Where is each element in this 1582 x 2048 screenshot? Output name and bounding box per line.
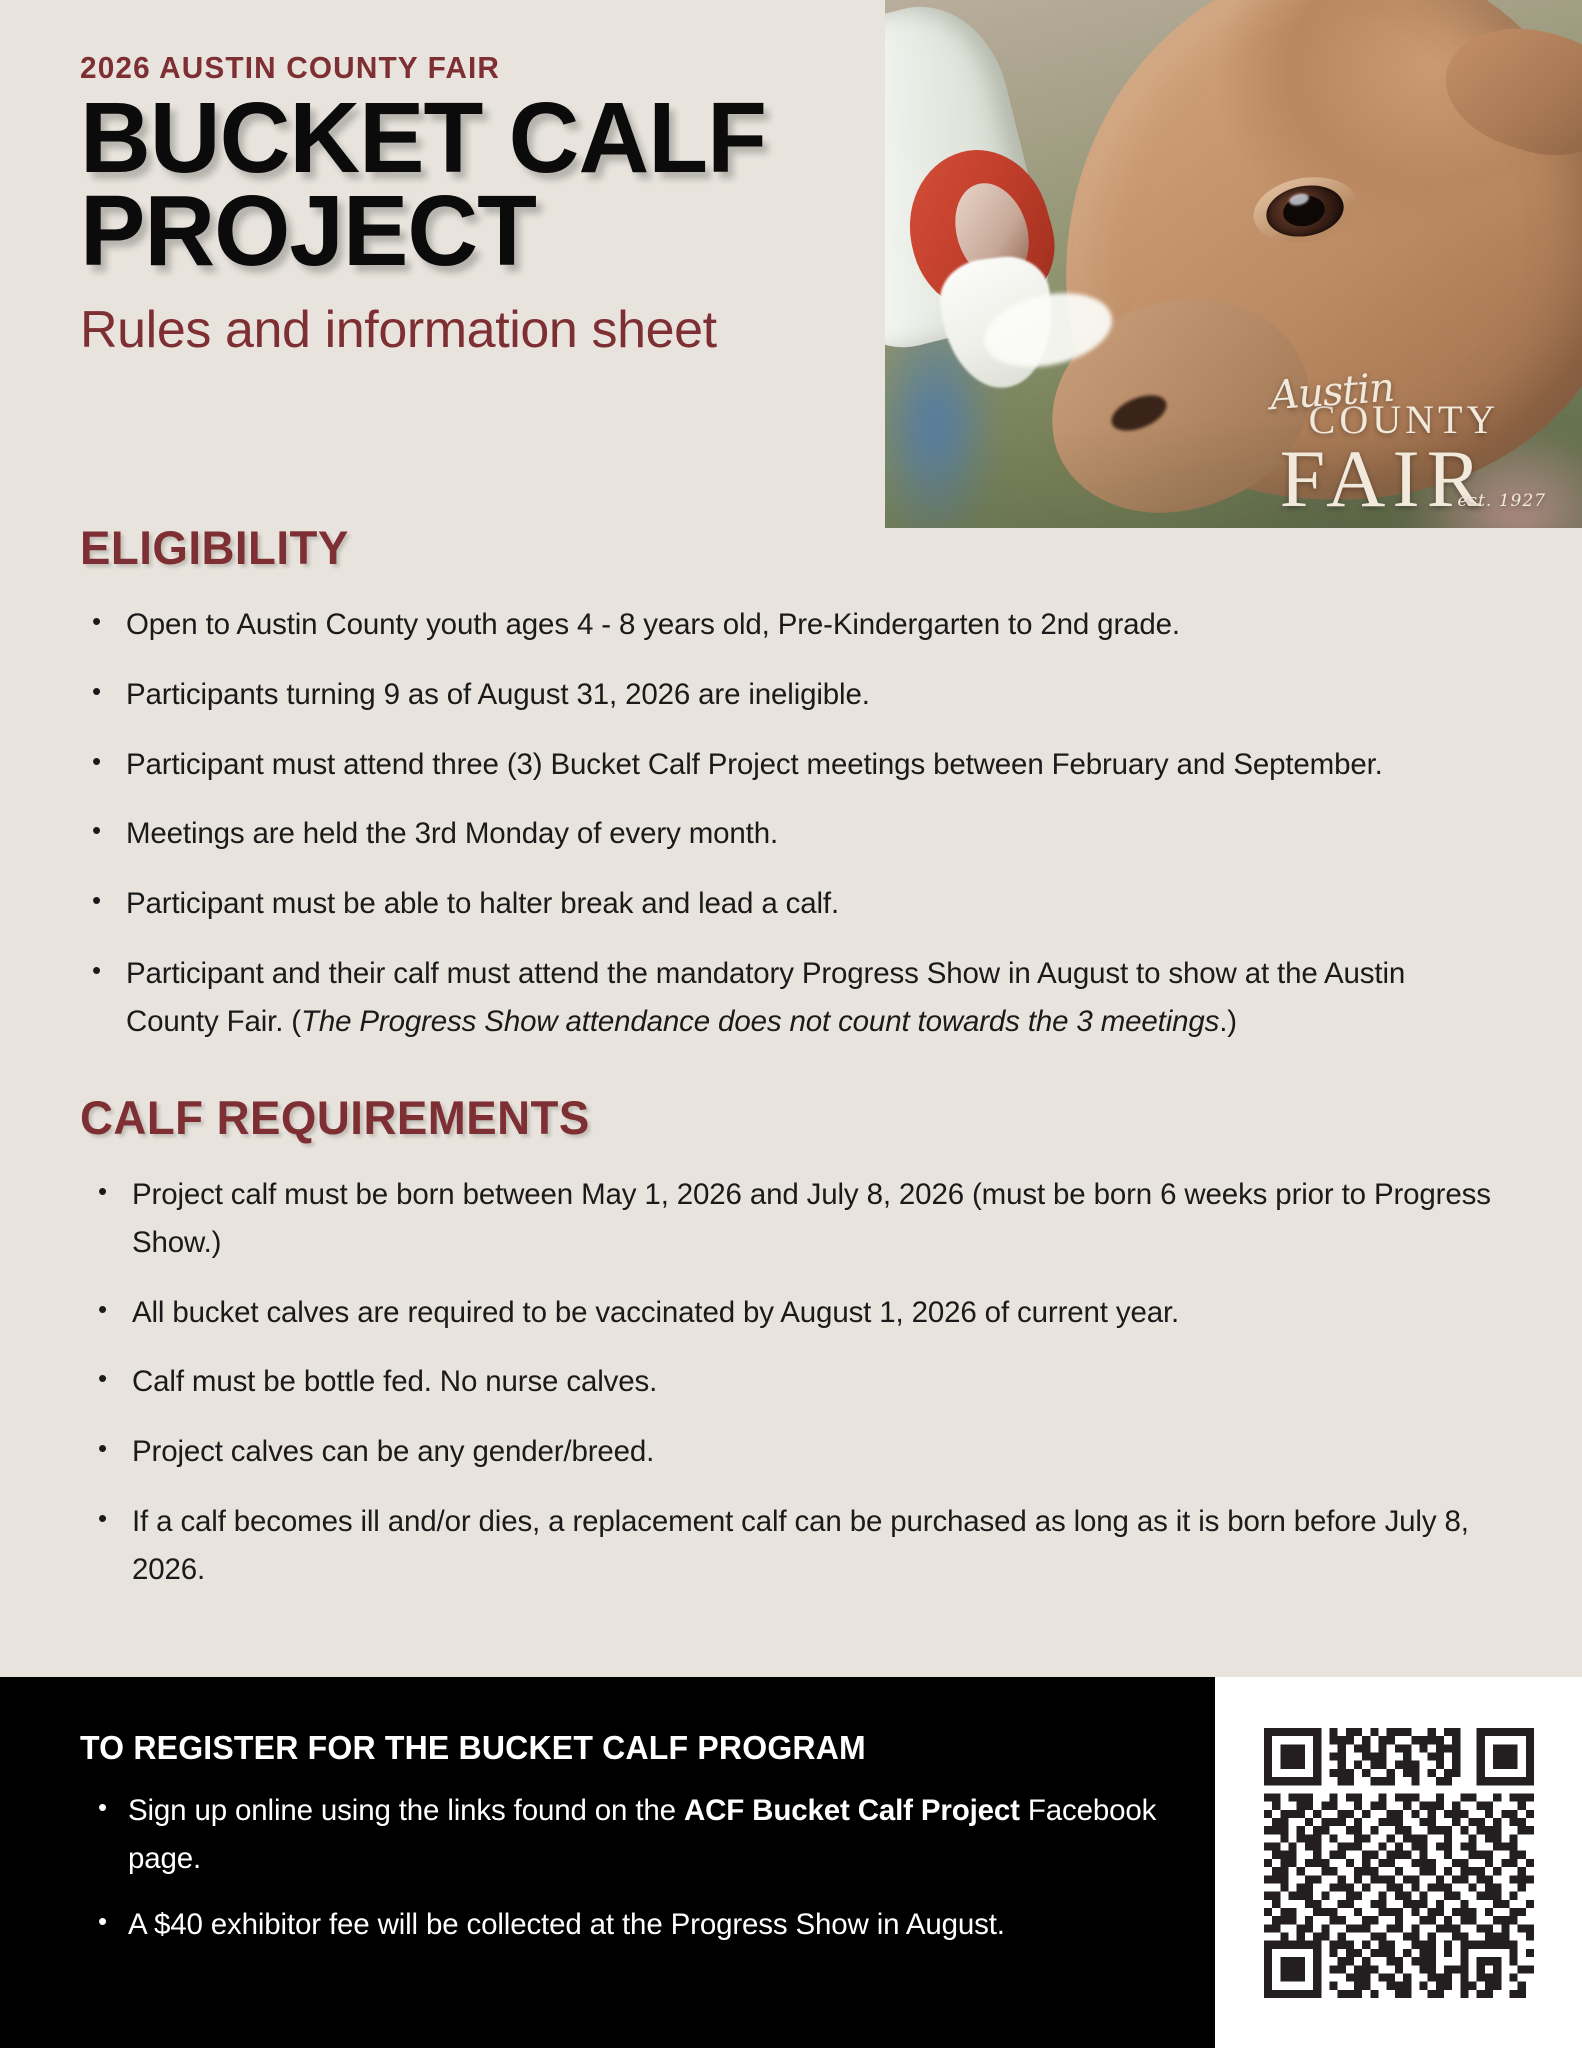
list-item: Project calves can be any gender/breed. [80,1428,1500,1476]
page-title: BUCKET CALF PROJECT [80,92,864,278]
list-item-text: Project calf must be born between May 1,… [132,1178,1491,1259]
list-item-text-prefix: Sign up online using the links found on … [128,1794,684,1827]
logo-established-text: est. 1927 [1457,493,1546,510]
list-item: Meetings are held the 3rd Monday of ever… [80,810,1500,858]
list-item-text: Project calves can be any gender/breed. [132,1435,654,1468]
qr-code-icon[interactable] [1264,1728,1534,1998]
list-item-text-bold: ACF Bucket Calf Project [684,1794,1020,1827]
poster-page: Austin COUNTY FAIR est. 1927 2026 AUSTIN… [0,0,1582,2048]
list-item: All bucket calves are required to be vac… [80,1289,1500,1337]
list-item-text: A $40 exhibitor fee will be collected at… [128,1908,1005,1941]
list-item-text-suffix: .) [1219,1005,1237,1038]
list-item: Participant and their calf must attend t… [80,950,1500,1046]
page-title-line2: PROJECT [80,175,536,287]
list-item-text-italic: The Progress Show attendance does not co… [301,1005,1219,1038]
section-title-eligibility: ELIGIBILITY [80,520,1457,575]
page-subtitle: Rules and information sheet [80,300,880,360]
list-item: Sign up online using the links found on … [80,1787,1160,1883]
list-item-text: All bucket calves are required to be vac… [132,1296,1179,1329]
poster-header: 2026 AUSTIN COUNTY FAIR BUCKET CALF PROJ… [80,50,880,360]
list-item: Project calf must be born between May 1,… [80,1171,1500,1267]
section-eligibility: ELIGIBILITY Open to Austin County youth … [80,520,1500,1067]
list-item-text: Participants turning 9 as of August 31, … [126,678,870,711]
list-item-text: Calf must be bottle fed. No nurse calves… [132,1365,657,1398]
list-item: If a calf becomes ill and/or dies, a rep… [80,1498,1500,1594]
list-item: Open to Austin County youth ages 4 - 8 y… [80,601,1500,649]
austin-county-fair-logo: Austin COUNTY FAIR est. 1927 [1234,372,1534,518]
register-list: Sign up online using the links found on … [80,1787,1160,1948]
list-item: Participant must attend three (3) Bucket… [80,741,1500,789]
footer-title-register: TO REGISTER FOR THE BUCKET CALF PROGRAM [80,1729,1128,1767]
calf-requirements-list: Project calf must be born between May 1,… [80,1171,1500,1593]
eyebrow-year-fair: 2026 AUSTIN COUNTY FAIR [80,50,848,86]
footer-content: TO REGISTER FOR THE BUCKET CALF PROGRAM … [80,1729,1160,1966]
list-item-text: Open to Austin County youth ages 4 - 8 y… [126,608,1180,641]
list-item: Participants turning 9 as of August 31, … [80,671,1500,719]
logo-fair-row: FAIR est. 1927 [1234,440,1534,518]
list-item: Participant must be able to halter break… [80,880,1500,928]
poster-footer: TO REGISTER FOR THE BUCKET CALF PROGRAM … [0,1677,1582,2048]
section-title-calf-requirements: CALF REQUIREMENTS [80,1090,1457,1145]
list-item-text: Meetings are held the 3rd Monday of ever… [126,817,778,850]
eligibility-list: Open to Austin County youth ages 4 - 8 y… [80,601,1500,1045]
list-item-text: If a calf becomes ill and/or dies, a rep… [132,1505,1469,1586]
calf-hero-photo: Austin COUNTY FAIR est. 1927 [885,0,1582,528]
list-item-text: Participant must be able to halter break… [126,887,839,920]
qr-code-panel [1215,1677,1582,2048]
list-item-text: Participant must attend three (3) Bucket… [126,748,1383,781]
list-item: Calf must be bottle fed. No nurse calves… [80,1358,1500,1406]
list-item: A $40 exhibitor fee will be collected at… [80,1901,1160,1949]
section-calf-requirements: CALF REQUIREMENTS Project calf must be b… [80,1090,1500,1615]
